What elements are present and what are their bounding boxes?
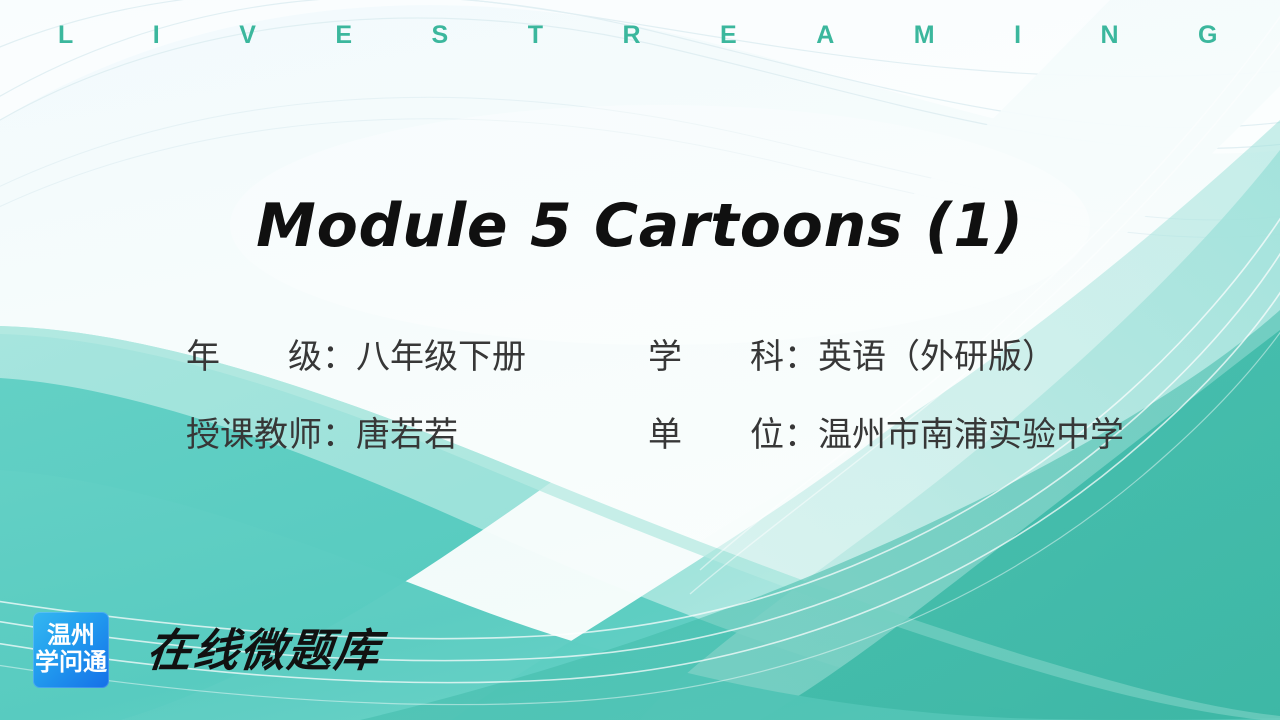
eyebrow-letter: T bbox=[528, 23, 544, 48]
eyebrow-letter: I bbox=[1014, 23, 1021, 48]
eyebrow-letter: L bbox=[58, 23, 74, 48]
slide-title: Module 5 Cartoons (1) bbox=[0, 192, 1280, 261]
eyebrow-letter: A bbox=[816, 23, 835, 48]
info-school: 单 位：温州市南浦实验中学 bbox=[648, 418, 1196, 452]
course-info-block: 年 级：八年级下册 学 科：英语（外研版） 授课教师：唐若若 单 位：温州市南浦… bbox=[186, 340, 1196, 496]
eyebrow-letter: M bbox=[914, 23, 935, 48]
eyebrow-letter: G bbox=[1198, 23, 1218, 48]
info-grade: 年 级：八年级下册 bbox=[186, 340, 648, 374]
eyebrow-letter: S bbox=[432, 23, 449, 48]
wenzhou-xuewentong-logo: 温州 学问通 bbox=[33, 612, 109, 688]
info-row: 年 级：八年级下册 学 科：英语（外研版） bbox=[186, 340, 1196, 418]
presentation-title-slide: L I V E S T R E A M I N G Module 5 Carto… bbox=[0, 0, 1280, 720]
eyebrow-letter: E bbox=[335, 23, 352, 48]
logo-line-2: 学问通 bbox=[35, 650, 107, 677]
logo-line-1: 温州 bbox=[47, 623, 95, 650]
eyebrow-letter: R bbox=[622, 23, 641, 48]
live-streaming-eyebrow: L I V E S T R E A M I N G bbox=[58, 18, 1218, 52]
info-subject: 学 科：英语（外研版） bbox=[648, 340, 1196, 374]
eyebrow-letter: V bbox=[239, 23, 256, 48]
info-row: 授课教师：唐若若 单 位：温州市南浦实验中学 bbox=[186, 418, 1196, 496]
eyebrow-letter: E bbox=[720, 23, 737, 48]
eyebrow-letter: I bbox=[153, 23, 160, 48]
eyebrow-letter: N bbox=[1101, 23, 1120, 48]
info-teacher: 授课教师：唐若若 bbox=[186, 418, 648, 452]
brand-slogan: 在线微题库 bbox=[145, 628, 384, 673]
brand-footer: 温州 学问通 在线微题库 bbox=[33, 612, 381, 688]
